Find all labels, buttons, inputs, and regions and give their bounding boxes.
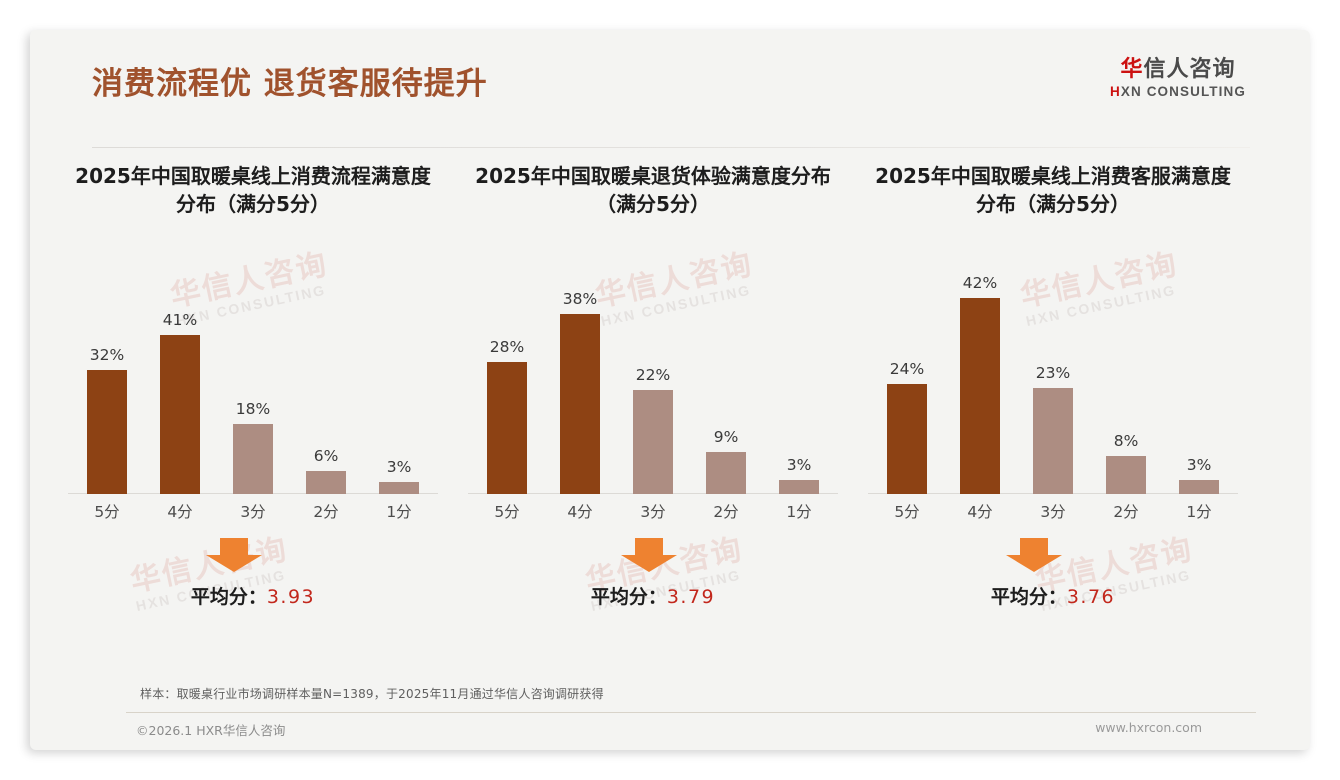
bar-value-label: 8% — [1114, 432, 1139, 450]
bar-column[interactable]: 9% — [695, 264, 757, 494]
bar-value-label: 41% — [163, 311, 197, 329]
down-arrow-icon — [206, 538, 262, 572]
copyright-text: ©2026.1 HXR华信人咨询 — [136, 720, 285, 739]
chart-panel-1: 2025年中国取暖桌线上消费流程满意度分布（满分5分） 32% 41% 18% — [58, 162, 448, 626]
bar-column[interactable]: 3% — [368, 264, 430, 494]
x-axis-tick-label: 5分 — [476, 500, 538, 530]
bar-value-label: 42% — [963, 274, 997, 292]
down-arrow-icon — [621, 538, 677, 572]
chart-panel-3: 2025年中国取暖桌线上消费客服满意度分布（满分5分） 24% 42% 23% — [858, 162, 1248, 626]
bar-value-label: 6% — [314, 447, 339, 465]
bar-column[interactable]: 23% — [1022, 264, 1084, 494]
average-score-value: 3.79 — [667, 586, 715, 608]
x-axis-tick-label: 3分 — [1022, 500, 1084, 530]
chart-title: 2025年中国取暖桌线上消费客服满意度分布（满分5分） — [858, 162, 1248, 222]
bar[interactable] — [1106, 456, 1146, 494]
x-axis-tick-label: 1分 — [1168, 500, 1230, 530]
page-title: 消费流程优 退货客服待提升 — [92, 58, 488, 103]
bar-column[interactable]: 3% — [1168, 264, 1230, 494]
bar-value-label: 3% — [1187, 456, 1212, 474]
x-axis-labels: 5分 4分 3分 2分 1分 — [876, 500, 1230, 530]
average-score-label: 平均分： — [191, 586, 267, 608]
logo-english-text: HXN CONSULTING — [1088, 84, 1268, 99]
bar-value-label: 3% — [387, 458, 412, 476]
bar[interactable] — [960, 298, 1000, 494]
bar[interactable] — [306, 471, 346, 494]
bar[interactable] — [887, 384, 927, 494]
sample-footnote: 样本：取暖桌行业市场调研样本量N=1389，于2025年11月通过华信人咨询调研… — [140, 685, 604, 702]
bar-chart: 24% 42% 23% 8% — [858, 264, 1248, 532]
x-axis-tick-label: 1分 — [368, 500, 430, 530]
header-divider — [92, 147, 1250, 148]
x-axis-tick-label: 4分 — [549, 500, 611, 530]
average-score-label: 平均分： — [991, 586, 1067, 608]
average-score-value: 3.76 — [1067, 586, 1115, 608]
bar-column[interactable]: 32% — [76, 264, 138, 494]
down-arrow-icon — [1006, 538, 1062, 572]
logo-en-rest: XN CONSULTING — [1121, 84, 1246, 99]
bar-column[interactable]: 18% — [222, 264, 284, 494]
bar[interactable] — [706, 452, 746, 494]
logo-chinese-text: 华信人咨询 — [1088, 58, 1268, 81]
bar-chart: 28% 38% 22% 9% — [458, 264, 848, 532]
bar-column[interactable]: 8% — [1095, 264, 1157, 494]
bar-value-label: 9% — [714, 428, 739, 446]
x-axis-tick-label: 2分 — [695, 500, 757, 530]
average-block: 平均分：3.76 — [858, 538, 1248, 626]
arrow-head — [206, 555, 262, 572]
bar[interactable] — [233, 424, 273, 494]
x-axis-tick-label: 4分 — [149, 500, 211, 530]
bar[interactable] — [560, 314, 600, 494]
x-axis-tick-label: 5分 — [76, 500, 138, 530]
chart-panel-2: 2025年中国取暖桌退货体验满意度分布（满分5分） 28% 38% 22% — [458, 162, 848, 626]
bar-column[interactable]: 6% — [295, 264, 357, 494]
average-score-label: 平均分： — [591, 586, 667, 608]
average-block: 平均分：3.93 — [58, 538, 448, 626]
bar-chart: 32% 41% 18% 6% — [58, 264, 448, 532]
slide-footer: ©2026.1 HXR华信人咨询 www.hxrcon.com — [30, 720, 1310, 750]
bar-value-label: 22% — [636, 366, 670, 384]
bar-value-label: 24% — [890, 360, 924, 378]
arrow-head — [621, 555, 677, 572]
chart-title: 2025年中国取暖桌退货体验满意度分布（满分5分） — [458, 162, 848, 222]
bar-column[interactable]: 3% — [768, 264, 830, 494]
slide-card: 华信人咨询 HXN CONSULTING 华信人咨询 HXN CONSULTIN… — [30, 30, 1310, 750]
average-score: 平均分：3.79 — [458, 582, 848, 609]
logo-cn-red-char: 华 — [1120, 57, 1143, 82]
bar[interactable] — [1179, 480, 1219, 494]
x-axis-tick-label: 2分 — [1095, 500, 1157, 530]
x-axis-tick-label: 3分 — [222, 500, 284, 530]
bar-column[interactable]: 24% — [876, 264, 938, 494]
bar-column[interactable]: 38% — [549, 264, 611, 494]
bar-value-label: 38% — [563, 290, 597, 308]
bar[interactable] — [779, 480, 819, 494]
bar-value-label: 3% — [787, 456, 812, 474]
bar-value-label: 28% — [490, 338, 524, 356]
chart-title: 2025年中国取暖桌线上消费流程满意度分布（满分5分） — [58, 162, 448, 222]
slide-header: 消费流程优 退货客服待提升 华信人咨询 HXN CONSULTING — [30, 30, 1310, 112]
bar-column[interactable]: 28% — [476, 264, 538, 494]
bar[interactable] — [487, 362, 527, 494]
arrow-head — [1006, 555, 1062, 572]
website-link[interactable]: www.hxrcon.com — [1095, 720, 1202, 735]
bar[interactable] — [1033, 388, 1073, 494]
average-score: 平均分：3.93 — [58, 582, 448, 609]
arrow-stem — [635, 538, 663, 555]
x-axis-tick-label: 4分 — [949, 500, 1011, 530]
average-block: 平均分：3.79 — [458, 538, 848, 626]
bar-column[interactable]: 41% — [149, 264, 211, 494]
bar-column[interactable]: 22% — [622, 264, 684, 494]
bar-value-label: 23% — [1036, 364, 1070, 382]
x-axis-labels: 5分 4分 3分 2分 1分 — [476, 500, 830, 530]
footer-divider — [126, 712, 1256, 713]
arrow-stem — [220, 538, 248, 555]
bar[interactable] — [87, 370, 127, 494]
bar-value-label: 18% — [236, 400, 270, 418]
bar[interactable] — [160, 335, 200, 494]
bar-group: 28% 38% 22% 9% — [476, 264, 830, 494]
average-score: 平均分：3.76 — [858, 582, 1248, 609]
bar[interactable] — [633, 390, 673, 494]
charts-row: 2025年中国取暖桌线上消费流程满意度分布（满分5分） 32% 41% 18% — [30, 162, 1310, 626]
logo-en-red-char: H — [1110, 84, 1121, 99]
arrow-stem — [1020, 538, 1048, 555]
company-logo: 华信人咨询 HXN CONSULTING — [1088, 58, 1268, 99]
x-axis-tick-label: 1分 — [768, 500, 830, 530]
bar-group: 32% 41% 18% 6% — [76, 264, 430, 494]
logo-cn-rest: 信人咨询 — [1144, 57, 1236, 82]
bar[interactable] — [379, 482, 419, 494]
average-score-value: 3.93 — [267, 586, 315, 608]
x-axis-tick-label: 2分 — [295, 500, 357, 530]
bar-group: 24% 42% 23% 8% — [876, 264, 1230, 494]
x-axis-tick-label: 3分 — [622, 500, 684, 530]
x-axis-labels: 5分 4分 3分 2分 1分 — [76, 500, 430, 530]
bar-column[interactable]: 42% — [949, 264, 1011, 494]
x-axis-tick-label: 5分 — [876, 500, 938, 530]
bar-value-label: 32% — [90, 346, 124, 364]
